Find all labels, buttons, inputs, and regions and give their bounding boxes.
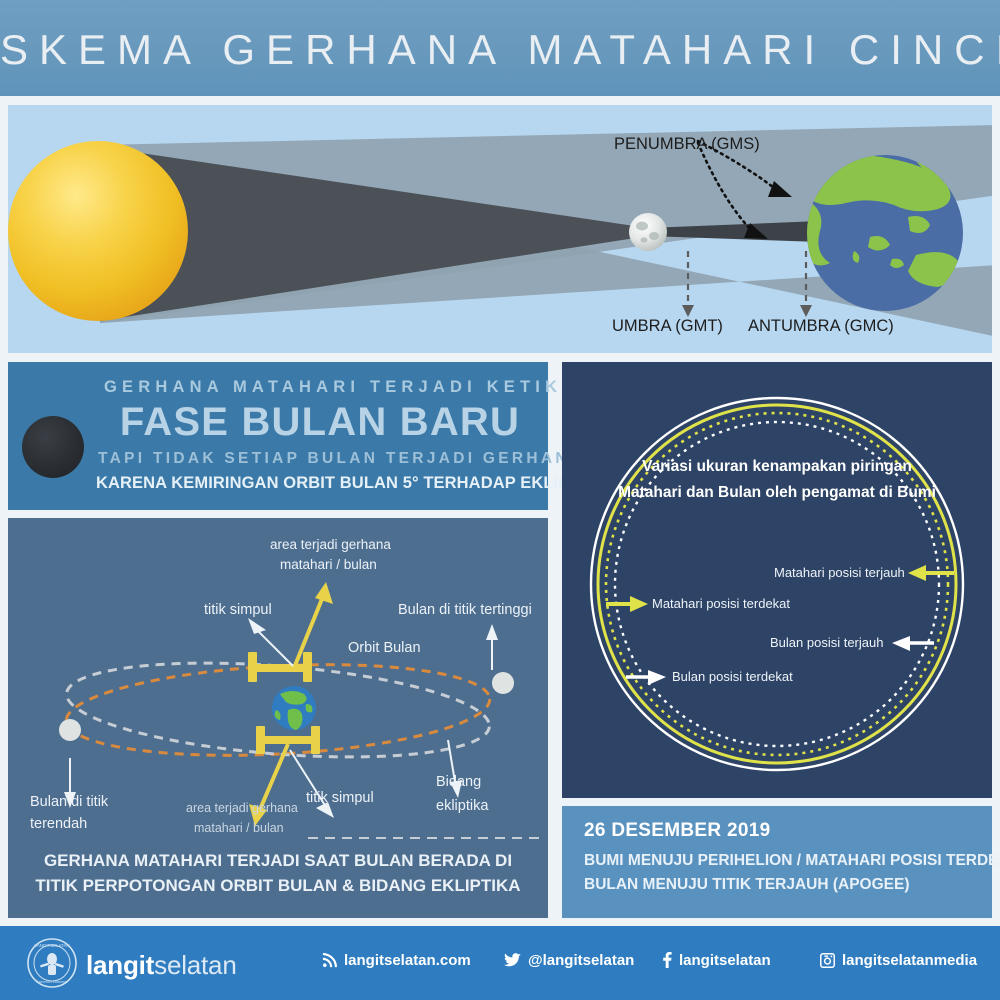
moon-highest-marker: [492, 672, 514, 694]
label-sun-near: Matahari posisi terdekat: [652, 596, 790, 611]
social-link-facebook[interactable]: langitselatan: [662, 952, 771, 972]
node-marker-top: [248, 652, 312, 682]
social-link-instagram[interactable]: langitselatanmedia: [820, 952, 977, 972]
social-link-twitter[interactable]: @langitselatan: [504, 952, 634, 972]
new-moon-eyebrow: GERHANA MATAHARI TERJADI KETIKA: [104, 378, 540, 397]
label-eclipse-area-top-2: matahari / bulan: [280, 556, 377, 573]
moon-near-arrowhead: [648, 670, 666, 685]
infographic-page: SKEMA GERHANA MATAHARI CINCIN: [0, 0, 1000, 1000]
label-sun-far: Matahari posisi terjauh: [774, 565, 905, 580]
orbit-caption-line-2: TITIK PERPOTONGAN ORBIT BULAN & BIDANG E…: [8, 873, 548, 898]
footer-bar: LANGITSELATAN Astronomi Indonesia langit…: [0, 926, 1000, 1000]
svg-text:LANGITSELATAN: LANGITSELATAN: [34, 943, 69, 948]
moon-orbit-nodes-panel: area terjadi gerhana matahari / bulan ti…: [8, 518, 548, 918]
label-ecliptic-1: Bidang: [436, 774, 481, 791]
event-date-panel: 26 DESEMBER 2019 BUMI MENUJU PERIHELION …: [562, 806, 992, 918]
moon-lowest-marker: [59, 719, 81, 741]
label-node-bottom: titik simpul: [306, 790, 374, 807]
label-moon-far: Bulan posisi terjauh: [770, 635, 883, 650]
sun-sphere: [8, 141, 188, 321]
new-moon-phase-panel: GERHANA MATAHARI TERJADI KETIKA FASE BUL…: [8, 362, 548, 510]
eclipse-geometry-svg: [8, 105, 992, 353]
label-umbra: UMBRA (GMT): [612, 317, 723, 336]
social-label-facebook: langitselatan: [679, 952, 771, 969]
node-arrowhead-top: [248, 618, 266, 634]
social-label-website: langitselatan.com: [344, 952, 471, 969]
label-eclipse-area-bottom-1: area terjadi gerhana: [186, 800, 298, 817]
event-detail-2: BULAN MENUJU TITIK TERJAUH (APOGEE): [584, 876, 910, 894]
moon-far-arrowhead: [892, 636, 910, 651]
sun-far-arrowhead: [908, 565, 926, 581]
social-label-twitter: @langitselatan: [528, 952, 634, 969]
logo-wordmark[interactable]: langitselatan: [86, 950, 237, 981]
orbit-caption-line-1: GERHANA MATAHARI TERJADI SAAT BULAN BERA…: [8, 848, 548, 873]
eclipse-area-arrowhead-top: [315, 582, 333, 604]
header-bar: SKEMA GERHANA MATAHARI CINCIN: [0, 0, 1000, 96]
svg-text:Astronomi Indonesia: Astronomi Indonesia: [37, 980, 68, 984]
logo-word-bold: langit: [86, 950, 154, 980]
new-moon-icon: [22, 416, 84, 478]
label-node-top: titik simpul: [204, 602, 272, 619]
eclipse-geometry-diagram: PENUMBRA (GMS) UMBRA (GMT) ANTUMBRA (GMC…: [8, 105, 992, 353]
umbra-arrowhead: [682, 305, 694, 317]
event-detail-1: BUMI MENUJU PERIHELION / MATAHARI POSISI…: [584, 852, 1000, 870]
apparent-size-svg: [562, 362, 992, 798]
orbit-caption: GERHANA MATAHARI TERJADI SAAT BULAN BERA…: [8, 848, 548, 898]
label-moon-near: Bulan posisi terdekat: [672, 669, 793, 684]
rss-icon: [322, 953, 337, 972]
node-marker-bottom: [256, 726, 320, 754]
twitter-icon: [504, 953, 521, 972]
apparent-size-panel: Variasi ukuran kenampakan piringan Matah…: [562, 362, 992, 798]
label-eclipse-area-top-1: area terjadi gerhana: [270, 536, 391, 553]
label-penumbra: PENUMBRA (GMS): [614, 135, 760, 154]
event-date: 26 DESEMBER 2019: [584, 820, 770, 842]
label-moon-orbit: Orbit Bulan: [348, 640, 421, 657]
langitselatan-seal-icon: LANGITSELATAN Astronomi Indonesia: [26, 937, 78, 989]
label-moon-highest: Bulan di titik tertinggi: [398, 602, 532, 619]
sun-near-arrowhead: [630, 596, 648, 612]
label-ecliptic-2: ekliptika: [436, 798, 488, 815]
antumbra-arrowhead: [800, 305, 812, 317]
new-moon-note: KARENA KEMIRINGAN ORBIT BULAN 5° TERHADA…: [96, 474, 544, 493]
social-label-instagram: langitselatanmedia: [842, 952, 977, 969]
label-moon-lowest-1: Bulan di titik: [30, 794, 108, 811]
new-moon-heading: FASE BULAN BARU: [96, 400, 544, 445]
label-eclipse-area-bottom-2: matahari / bulan: [194, 820, 284, 837]
logo-word-light: selatan: [154, 950, 236, 980]
apparent-size-title: Variasi ukuran kenampakan piringan Matah…: [617, 454, 937, 506]
page-title: SKEMA GERHANA MATAHARI CINCIN: [0, 26, 1000, 74]
facebook-icon: [662, 952, 672, 972]
social-link-website[interactable]: langitselatan.com: [322, 952, 471, 972]
label-antumbra: ANTUMBRA (GMC): [748, 317, 894, 336]
moon-sphere: [629, 213, 667, 251]
moon-highest-arrowhead: [486, 624, 498, 640]
instagram-icon: [820, 953, 835, 972]
label-moon-lowest-2: terendah: [30, 816, 87, 833]
new-moon-subline: TAPI TIDAK SETIAP BULAN TERJADI GERHANA: [98, 450, 542, 468]
